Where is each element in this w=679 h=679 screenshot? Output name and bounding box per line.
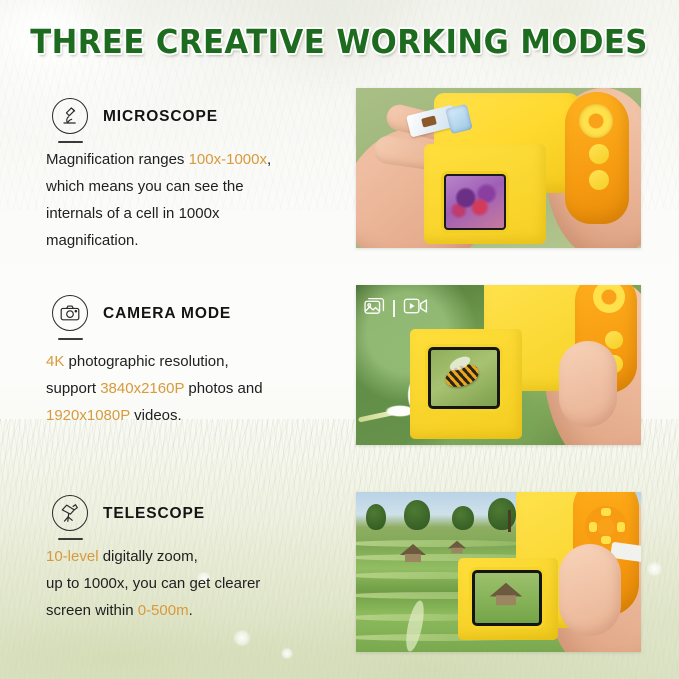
- camera-mode-description: 4K photographic resolution, support 3840…: [46, 348, 336, 429]
- page-title: THREE CREATIVE WORKING MODES: [31, 22, 649, 61]
- text-run: internals of a cell in 1000x: [46, 205, 219, 222]
- text-run: which means you can see the: [46, 178, 244, 195]
- text-run: photographic resolution,: [64, 353, 228, 370]
- telescope-label: TELESCOPE: [103, 505, 205, 523]
- highlight-run: 1920x1080P: [46, 407, 130, 424]
- mode-overlay-icons: [364, 297, 429, 320]
- telescope-product-photo: [356, 492, 641, 652]
- microscope-heading: MICROSCOPE: [52, 98, 218, 136]
- telescope-heading: TELESCOPE: [52, 495, 205, 533]
- daisy-decor: [232, 630, 252, 646]
- microscope-label: MICROSCOPE: [103, 108, 218, 126]
- camera-mode-product-photo: [356, 285, 641, 445]
- text-run: ,: [267, 151, 271, 168]
- highlight-run: 100x-1000x: [189, 151, 267, 168]
- text-run: support: [46, 380, 100, 397]
- daisy-decor: [646, 562, 663, 576]
- text-run: digitally zoom,: [99, 548, 198, 565]
- camera-icon: [52, 295, 90, 333]
- heading-underline: [58, 538, 83, 540]
- microscope-description: Magnification ranges 100x-1000x, which m…: [46, 146, 336, 254]
- highlight-run: 0-500m: [138, 602, 189, 619]
- text-run: .: [189, 602, 193, 619]
- text-run: screen within: [46, 602, 138, 619]
- photo-mode-icon: [364, 297, 385, 320]
- page-title-container: THREE CREATIVE WORKING MODES: [0, 22, 679, 61]
- mode-divider: [393, 300, 395, 317]
- highlight-run: 10-level: [46, 548, 99, 565]
- video-mode-icon: [403, 297, 429, 320]
- text-run: videos.: [130, 407, 182, 424]
- daisy-decor: [280, 648, 294, 659]
- highlight-run: 3840x2160P: [100, 380, 184, 397]
- telescope-description: 10-level digitally zoom, up to 1000x, yo…: [46, 543, 336, 624]
- heading-underline: [58, 338, 83, 340]
- text-run: photos and: [184, 380, 262, 397]
- heading-underline: [58, 141, 83, 143]
- marketing-infographic: THREE CREATIVE WORKING MODES MICROSCOPE …: [0, 0, 679, 679]
- text-run: Magnification ranges: [46, 151, 189, 168]
- text-run: magnification.: [46, 232, 139, 249]
- microscope-icon: [52, 98, 90, 136]
- camera-mode-heading: CAMERA MODE: [52, 295, 231, 333]
- camera-mode-label: CAMERA MODE: [103, 305, 231, 323]
- telescope-icon: [52, 495, 90, 533]
- text-run: up to 1000x, you can get clearer: [46, 575, 260, 592]
- highlight-run: 4K: [46, 353, 64, 370]
- microscope-product-photo: [356, 88, 641, 248]
